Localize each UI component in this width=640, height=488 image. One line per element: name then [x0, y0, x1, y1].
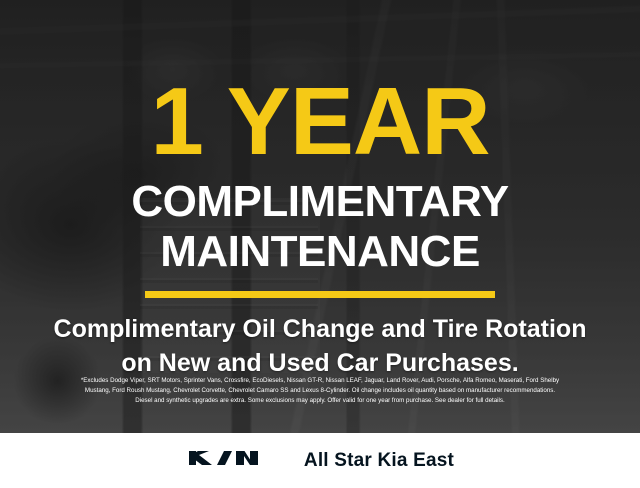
- disclaimer-line-3: Diesel and synthetic upgrades are extra.…: [12, 396, 628, 406]
- accent-divider-bar: [145, 291, 495, 298]
- kia-logo-icon: [186, 445, 282, 476]
- disclaimer-text: *Excludes Dodge Viper, SRT Motors, Sprin…: [0, 376, 640, 406]
- headline-complimentary: COMPLIMENTARY: [131, 180, 508, 224]
- promotional-banner: 1 YEAR COMPLIMENTARY MAINTENANCE Complim…: [0, 0, 640, 488]
- offer-description-line-2: on New and Used Car Purchases.: [121, 347, 518, 379]
- hero-content: 1 YEAR COMPLIMENTARY MAINTENANCE Complim…: [0, 0, 640, 433]
- hero-section: 1 YEAR COMPLIMENTARY MAINTENANCE Complim…: [0, 0, 640, 433]
- headline-maintenance: MAINTENANCE: [160, 230, 480, 274]
- offer-description-line-1: Complimentary Oil Change and Tire Rotati…: [54, 313, 587, 345]
- footer-bar: All Star Kia East: [0, 433, 640, 488]
- disclaimer-line-1: *Excludes Dodge Viper, SRT Motors, Sprin…: [12, 376, 628, 386]
- dealer-name: All Star Kia East: [304, 450, 454, 472]
- disclaimer-line-2: Mustang, Ford Roush Mustang, Chevrolet C…: [12, 386, 628, 396]
- headline-year: 1 YEAR: [150, 78, 489, 166]
